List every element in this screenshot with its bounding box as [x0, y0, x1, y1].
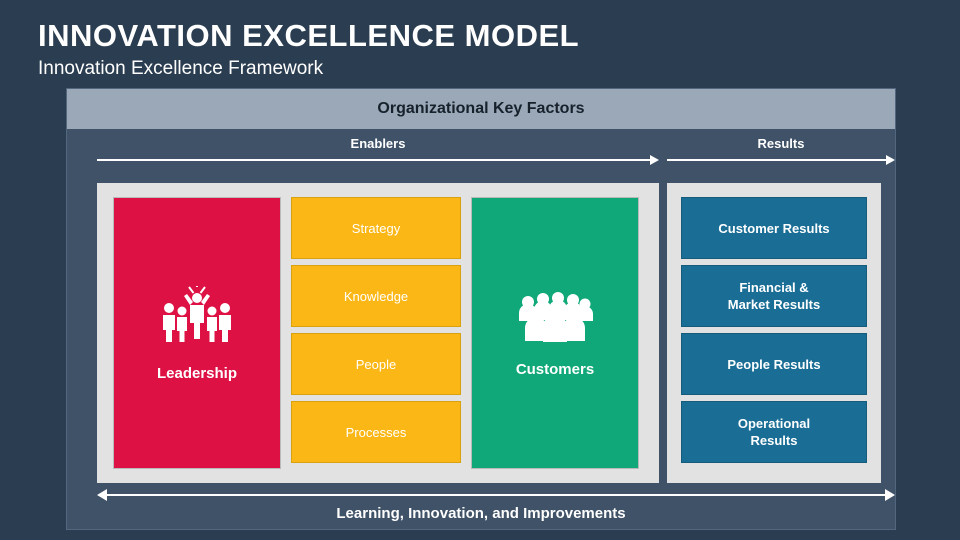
card-customer-results-label: Customer Results [718, 220, 829, 237]
card-leadership[interactable]: Leadership [113, 197, 281, 469]
card-processes-label: Processes [346, 425, 407, 440]
card-customer-results[interactable]: Customer Results [681, 197, 867, 259]
results-arrow-line [667, 159, 887, 161]
enablers-arrow [97, 155, 659, 165]
organizational-key-factors-bar: Organizational Key Factors [67, 89, 895, 129]
enablers-header: Enablers [97, 135, 659, 165]
results-arrow [667, 155, 895, 165]
card-processes[interactable]: Processes [291, 401, 461, 463]
enablers-label: Enablers [97, 135, 659, 153]
card-knowledge[interactable]: Knowledge [291, 265, 461, 327]
feedback-arrow-head-right-icon [885, 489, 895, 501]
card-financial-market-results-line2: Market Results [728, 297, 820, 312]
page-subtitle: Innovation Excellence Framework [38, 58, 323, 80]
card-people[interactable]: People [291, 333, 461, 395]
card-knowledge-label: Knowledge [344, 289, 408, 304]
organizational-key-factors-label: Organizational Key Factors [377, 100, 584, 118]
crowd-people-icon [516, 289, 594, 343]
results-label: Results [667, 135, 895, 153]
card-financial-market-results[interactable]: Financial & Market Results [681, 265, 867, 327]
page-title: INNOVATION EXCELLENCE MODEL [38, 18, 579, 54]
card-people-label: People [356, 357, 396, 372]
card-financial-market-results-line1: Financial & [739, 280, 808, 295]
people-group-icon [160, 285, 234, 347]
card-people-results-label: People Results [727, 356, 820, 373]
card-people-results[interactable]: People Results [681, 333, 867, 395]
card-customers[interactable]: Customers [471, 197, 639, 469]
learning-feedback-arrow [97, 489, 895, 501]
card-customers-label: Customers [516, 361, 594, 378]
card-leadership-label: Leadership [157, 365, 237, 382]
learning-innovation-improvements-label: Learning, Innovation, and Improvements [67, 505, 895, 522]
results-arrow-head-icon [886, 155, 895, 165]
model-panel: Organizational Key Factors Enablers Resu… [66, 88, 896, 530]
enablers-arrow-line [97, 159, 651, 161]
enablers-arrow-head-icon [650, 155, 659, 165]
card-operational-results-line2: Results [751, 433, 798, 448]
card-strategy-label: Strategy [352, 221, 400, 236]
slide: INNOVATION EXCELLENCE MODEL Innovation E… [0, 0, 960, 540]
card-operational-results-line1: Operational [738, 416, 810, 431]
results-header: Results [667, 135, 895, 165]
feedback-arrow-line [105, 494, 887, 496]
card-operational-results[interactable]: Operational Results [681, 401, 867, 463]
card-strategy[interactable]: Strategy [291, 197, 461, 259]
